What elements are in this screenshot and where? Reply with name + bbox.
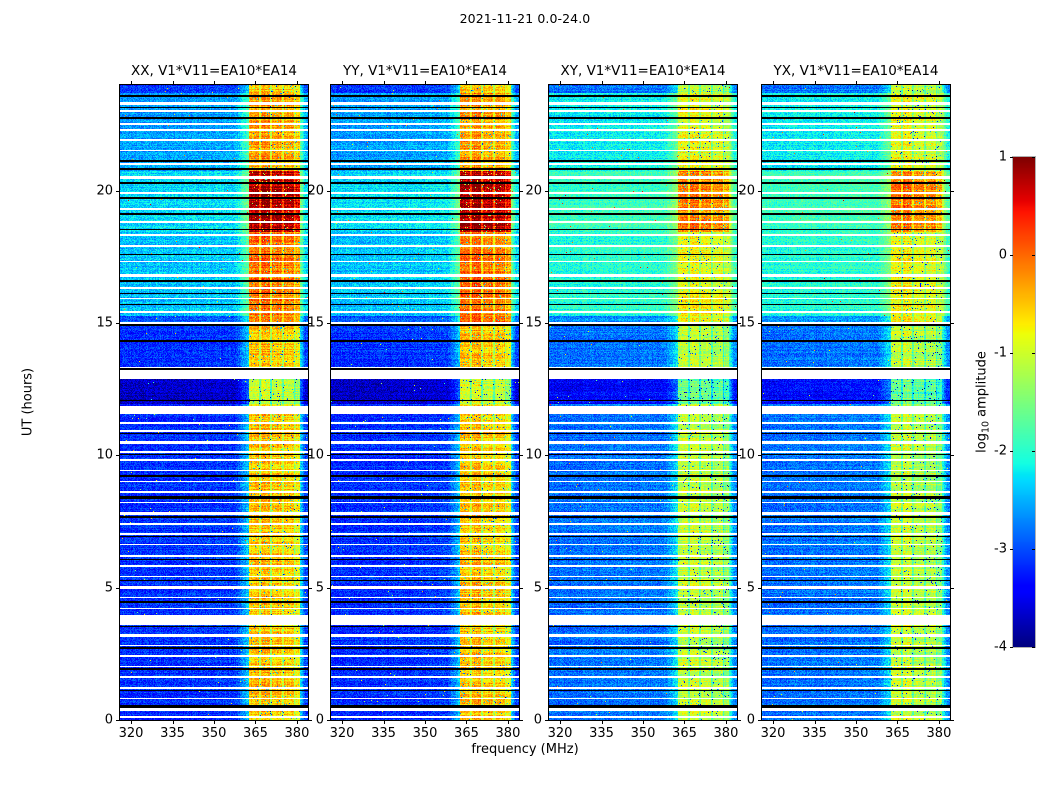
colorbar-tick-mark-inner bbox=[1032, 255, 1036, 256]
colorbar-tick-label: 1 bbox=[999, 150, 1007, 165]
y-tick-label: 5 bbox=[747, 580, 755, 595]
heatmap-xx bbox=[120, 85, 308, 720]
x-tick-label: 350 bbox=[413, 726, 438, 741]
x-tick-mark-top bbox=[508, 81, 509, 85]
y-tick-label: 20 bbox=[738, 183, 755, 198]
y-tick-mark-right bbox=[737, 720, 741, 721]
colorbar-label-base: log bbox=[975, 433, 990, 453]
x-tick-mark bbox=[342, 720, 343, 724]
figure-suptitle: 2021-11-21 0.0-24.0 bbox=[0, 11, 1050, 26]
x-tick-mark-top bbox=[856, 81, 857, 85]
colorbar-label-rest: amplitude bbox=[975, 351, 990, 421]
x-tick-label: 320 bbox=[119, 726, 144, 741]
colorbar-gradient bbox=[1013, 157, 1035, 647]
heatmap-yx bbox=[762, 85, 950, 720]
y-tick-mark-right bbox=[950, 323, 954, 324]
y-tick-mark bbox=[545, 191, 549, 192]
panel-yx[interactable]: YX, V1*V11=EA10*EA14 3203353503653800510… bbox=[762, 85, 950, 720]
x-tick-mark bbox=[214, 720, 215, 724]
x-tick-mark bbox=[255, 720, 256, 724]
x-tick-label: 365 bbox=[243, 726, 268, 741]
x-tick-mark-top bbox=[131, 81, 132, 85]
x-tick-label: 365 bbox=[672, 726, 697, 741]
y-tick-mark bbox=[116, 323, 120, 324]
y-tick-label: 15 bbox=[525, 316, 542, 331]
y-tick-mark bbox=[545, 455, 549, 456]
x-tick-mark bbox=[939, 720, 940, 724]
x-tick-mark bbox=[897, 720, 898, 724]
colorbar-tick-mark bbox=[1010, 353, 1014, 354]
y-tick-label: 5 bbox=[534, 580, 542, 595]
y-tick-mark-right bbox=[308, 588, 312, 589]
colorbar-tick-mark bbox=[1010, 647, 1014, 648]
colorbar-tick-mark bbox=[1010, 255, 1014, 256]
y-tick-mark-right bbox=[519, 191, 523, 192]
y-tick-label: 0 bbox=[747, 713, 755, 728]
colorbar-label-subscript: 10 bbox=[980, 421, 991, 433]
colorbar-tick-label: -1 bbox=[994, 346, 1007, 361]
colorbar[interactable]: -4-3-2-101 bbox=[1013, 157, 1035, 647]
x-tick-mark bbox=[602, 720, 603, 724]
y-tick-label: 20 bbox=[96, 183, 113, 198]
y-tick-mark bbox=[758, 455, 762, 456]
x-tick-mark-top bbox=[643, 81, 644, 85]
y-tick-mark-right bbox=[308, 720, 312, 721]
x-tick-mark bbox=[297, 720, 298, 724]
y-tick-mark bbox=[758, 588, 762, 589]
x-tick-label: 350 bbox=[844, 726, 869, 741]
y-tick-mark bbox=[116, 191, 120, 192]
y-tick-label: 10 bbox=[525, 448, 542, 463]
y-tick-mark-right bbox=[737, 588, 741, 589]
y-tick-mark-right bbox=[519, 323, 523, 324]
panel-xy[interactable]: XY, V1*V11=EA10*EA14 3203353503653800510… bbox=[549, 85, 737, 720]
x-tick-label: 365 bbox=[454, 726, 479, 741]
y-tick-label: 15 bbox=[96, 316, 113, 331]
y-tick-label: 15 bbox=[738, 316, 755, 331]
x-tick-mark bbox=[643, 720, 644, 724]
y-tick-label: 0 bbox=[316, 713, 324, 728]
y-tick-label: 15 bbox=[307, 316, 324, 331]
x-tick-mark-top bbox=[297, 81, 298, 85]
y-tick-mark bbox=[116, 588, 120, 589]
colorbar-tick-mark bbox=[1010, 157, 1014, 158]
colorbar-tick-label: -3 bbox=[994, 542, 1007, 557]
y-tick-mark bbox=[116, 455, 120, 456]
colorbar-tick-mark bbox=[1010, 451, 1014, 452]
panel-xx[interactable]: XX, V1*V11=EA10*EA14 3203353503653800510… bbox=[120, 85, 308, 720]
y-tick-mark bbox=[327, 455, 331, 456]
x-tick-mark bbox=[815, 720, 816, 724]
x-tick-mark-top bbox=[173, 81, 174, 85]
y-tick-mark bbox=[545, 720, 549, 721]
x-tick-label: 380 bbox=[714, 726, 739, 741]
x-tick-mark-top bbox=[560, 81, 561, 85]
x-tick-mark bbox=[425, 720, 426, 724]
heatmap-xy bbox=[549, 85, 737, 720]
y-tick-mark bbox=[327, 323, 331, 324]
x-tick-mark-top bbox=[342, 81, 343, 85]
x-tick-mark bbox=[466, 720, 467, 724]
y-tick-label: 10 bbox=[307, 448, 324, 463]
colorbar-tick-mark-inner bbox=[1032, 549, 1036, 550]
x-tick-label: 335 bbox=[589, 726, 614, 741]
x-tick-label: 365 bbox=[885, 726, 910, 741]
x-tick-label: 350 bbox=[202, 726, 227, 741]
x-tick-mark bbox=[684, 720, 685, 724]
x-tick-mark-top bbox=[384, 81, 385, 85]
y-tick-label: 5 bbox=[316, 580, 324, 595]
colorbar-label: log10 amplitude bbox=[975, 351, 990, 453]
x-tick-mark bbox=[173, 720, 174, 724]
x-tick-mark-top bbox=[214, 81, 215, 85]
y-tick-label: 0 bbox=[105, 713, 113, 728]
x-axis-label: frequency (MHz) bbox=[0, 742, 1050, 757]
x-tick-label: 380 bbox=[285, 726, 310, 741]
x-tick-mark-top bbox=[425, 81, 426, 85]
y-tick-mark-right bbox=[950, 455, 954, 456]
y-tick-mark bbox=[116, 720, 120, 721]
y-tick-mark-right bbox=[950, 588, 954, 589]
panel-title-yx: YX, V1*V11=EA10*EA14 bbox=[773, 63, 938, 79]
x-tick-label: 335 bbox=[371, 726, 396, 741]
colorbar-tick-mark-inner bbox=[1032, 451, 1036, 452]
y-tick-mark bbox=[545, 588, 549, 589]
y-tick-label: 10 bbox=[738, 448, 755, 463]
colorbar-tick-label: -4 bbox=[994, 640, 1007, 655]
y-tick-mark bbox=[327, 720, 331, 721]
x-tick-mark bbox=[384, 720, 385, 724]
x-tick-mark-top bbox=[602, 81, 603, 85]
y-tick-label: 0 bbox=[534, 713, 542, 728]
x-tick-mark-top bbox=[773, 81, 774, 85]
colorbar-tick-label: 0 bbox=[999, 248, 1007, 263]
x-tick-label: 320 bbox=[330, 726, 355, 741]
x-tick-label: 320 bbox=[548, 726, 573, 741]
x-tick-label: 350 bbox=[631, 726, 656, 741]
x-tick-mark-top bbox=[466, 81, 467, 85]
y-tick-mark-right bbox=[519, 455, 523, 456]
heatmap-yy bbox=[331, 85, 519, 720]
y-tick-mark bbox=[327, 588, 331, 589]
x-tick-mark-top bbox=[897, 81, 898, 85]
x-tick-mark-top bbox=[815, 81, 816, 85]
y-tick-label: 10 bbox=[96, 448, 113, 463]
x-tick-mark bbox=[131, 720, 132, 724]
y-tick-mark bbox=[758, 323, 762, 324]
y-tick-mark-right bbox=[950, 191, 954, 192]
colorbar-tick-label: -2 bbox=[994, 444, 1007, 459]
y-tick-label: 5 bbox=[105, 580, 113, 595]
x-tick-mark bbox=[773, 720, 774, 724]
x-tick-mark bbox=[726, 720, 727, 724]
x-tick-mark-top bbox=[726, 81, 727, 85]
x-tick-label: 335 bbox=[802, 726, 827, 741]
y-tick-mark bbox=[758, 191, 762, 192]
x-tick-label: 380 bbox=[927, 726, 952, 741]
x-tick-label: 335 bbox=[160, 726, 185, 741]
y-tick-mark-right bbox=[519, 720, 523, 721]
panel-title-xy: XY, V1*V11=EA10*EA14 bbox=[560, 63, 725, 79]
colorbar-tick-mark bbox=[1010, 549, 1014, 550]
x-tick-label: 380 bbox=[496, 726, 521, 741]
y-tick-mark bbox=[545, 323, 549, 324]
y-tick-label: 20 bbox=[525, 183, 542, 198]
x-tick-mark bbox=[856, 720, 857, 724]
y-tick-mark-right bbox=[519, 588, 523, 589]
colorbar-tick-mark-inner bbox=[1032, 353, 1036, 354]
panel-title-xx: XX, V1*V11=EA10*EA14 bbox=[131, 63, 297, 79]
x-tick-label: 320 bbox=[761, 726, 786, 741]
y-tick-mark bbox=[758, 720, 762, 721]
x-tick-mark bbox=[508, 720, 509, 724]
y-tick-mark bbox=[327, 191, 331, 192]
figure-canvas: 2021-11-21 0.0-24.0 XX, V1*V11=EA10*EA14… bbox=[0, 0, 1050, 800]
x-tick-mark-top bbox=[939, 81, 940, 85]
y-tick-mark-right bbox=[950, 720, 954, 721]
x-tick-mark-top bbox=[684, 81, 685, 85]
y-axis-label: UT (hours) bbox=[21, 368, 36, 436]
colorbar-tick-mark-inner bbox=[1032, 157, 1036, 158]
panel-title-yy: YY, V1*V11=EA10*EA14 bbox=[343, 63, 507, 79]
colorbar-tick-mark-inner bbox=[1032, 647, 1036, 648]
x-tick-mark-top bbox=[255, 81, 256, 85]
panel-yy[interactable]: YY, V1*V11=EA10*EA14 3203353503653800510… bbox=[331, 85, 519, 720]
x-tick-mark bbox=[560, 720, 561, 724]
y-tick-label: 20 bbox=[307, 183, 324, 198]
